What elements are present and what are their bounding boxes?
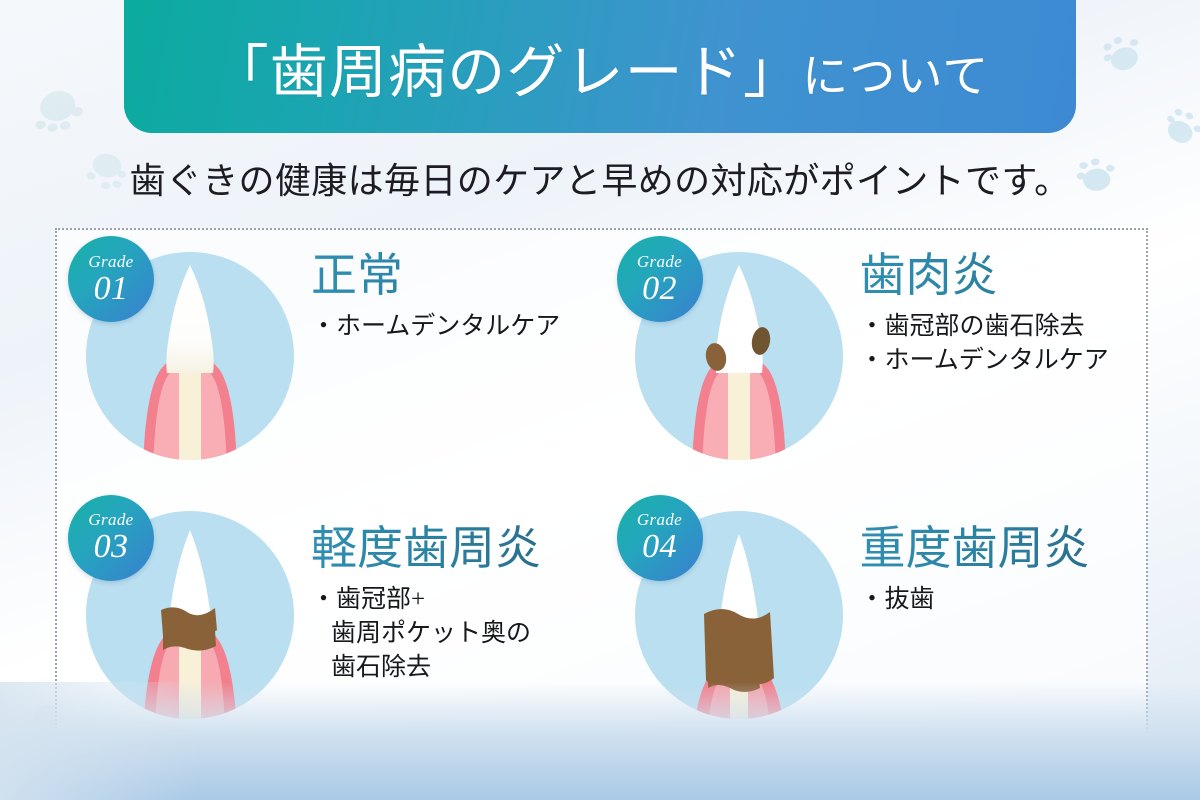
subtitle: 歯ぐきの健康は毎日のケアと早めの対応がポイントです。: [0, 152, 1200, 204]
list-item-continuation: 歯石除去: [311, 651, 541, 685]
list-item: ・ホームデンタルケア: [311, 310, 560, 344]
grade-badge-number: 04: [642, 530, 677, 564]
grade-badge-word: Grade: [637, 253, 682, 270]
grade-card-01: Grade 01 正常 ・ホームデンタルケア: [55, 228, 602, 487]
grade-treatment-list-03: ・歯冠部+ 歯周ポケット奥の 歯石除去: [311, 583, 541, 685]
grade-treatment-list-02: ・歯冠部の歯石除去 ・ホームデンタルケア: [860, 310, 1109, 378]
title-banner: 「歯周病のグレード」について: [124, 0, 1076, 133]
page-title-suffix: について: [802, 51, 989, 102]
grade-title-02: 歯肉炎: [860, 252, 1109, 300]
grade-badge-number: 01: [94, 272, 129, 306]
list-item: ・歯冠部の歯石除去: [860, 310, 1109, 344]
list-item: ・歯冠部+: [311, 583, 541, 617]
grade-title-04: 重度歯周炎: [860, 525, 1090, 573]
grade-treatment-list-01: ・ホームデンタルケア: [311, 310, 560, 344]
page-title-main: 「歯周病のグレード」: [211, 40, 803, 105]
list-item-continuation-line: 歯周ポケット奥の: [311, 617, 541, 651]
infographic-poster: 「歯周病のグレード」について 歯ぐきの健康は毎日のケアと早めの対応がポイントです…: [0, 0, 1200, 800]
grade-badge-number: 03: [94, 530, 129, 564]
grade-title-01: 正常: [311, 252, 560, 300]
grade-badge-word: Grade: [637, 511, 682, 528]
paw-print-icon: [19, 68, 98, 145]
tooth-illustration-gingivitis: Grade 02: [624, 241, 854, 471]
grade-card-02: Grade 02 歯肉炎 ・歯冠部の歯石除去 ・ホームデンタルケア: [602, 228, 1149, 487]
list-item: ・ホームデンタルケア: [860, 344, 1109, 378]
grade-text-02: 歯肉炎 ・歯冠部の歯石除去 ・ホームデンタルケア: [860, 228, 1109, 378]
grade-badge-number: 02: [642, 272, 677, 306]
list-item-continuation-line: 歯石除去: [311, 651, 541, 685]
grade-text-04: 重度歯周炎 ・抜歯: [860, 487, 1090, 617]
footer-left-fade: [0, 682, 200, 800]
grade-badge-04: Grade 04: [617, 495, 703, 581]
grade-grid: Grade 01 正常 ・ホームデンタルケア: [55, 228, 1148, 745]
tooth-illustration-healthy: Grade 01: [75, 241, 305, 471]
grade-badge-word: Grade: [88, 253, 133, 270]
grade-badge-02: Grade 02: [617, 236, 703, 322]
paw-print-icon: [1090, 25, 1155, 89]
grade-text-03: 軽度歯周炎 ・歯冠部+ 歯周ポケット奥の 歯石除去: [311, 487, 541, 685]
grade-text-01: 正常 ・ホームデンタルケア: [311, 228, 560, 344]
page-title: 「歯周病のグレード」について: [211, 25, 990, 109]
list-item-continuation: 歯周ポケット奥の: [311, 617, 541, 651]
grade-treatment-list-04: ・抜歯: [860, 583, 1090, 617]
grade-badge-word: Grade: [88, 511, 133, 528]
grade-badge-01: Grade 01: [68, 236, 154, 322]
grade-badge-03: Grade 03: [68, 495, 154, 581]
list-item: ・抜歯: [860, 583, 1090, 617]
grade-title-03: 軽度歯周炎: [311, 525, 541, 573]
